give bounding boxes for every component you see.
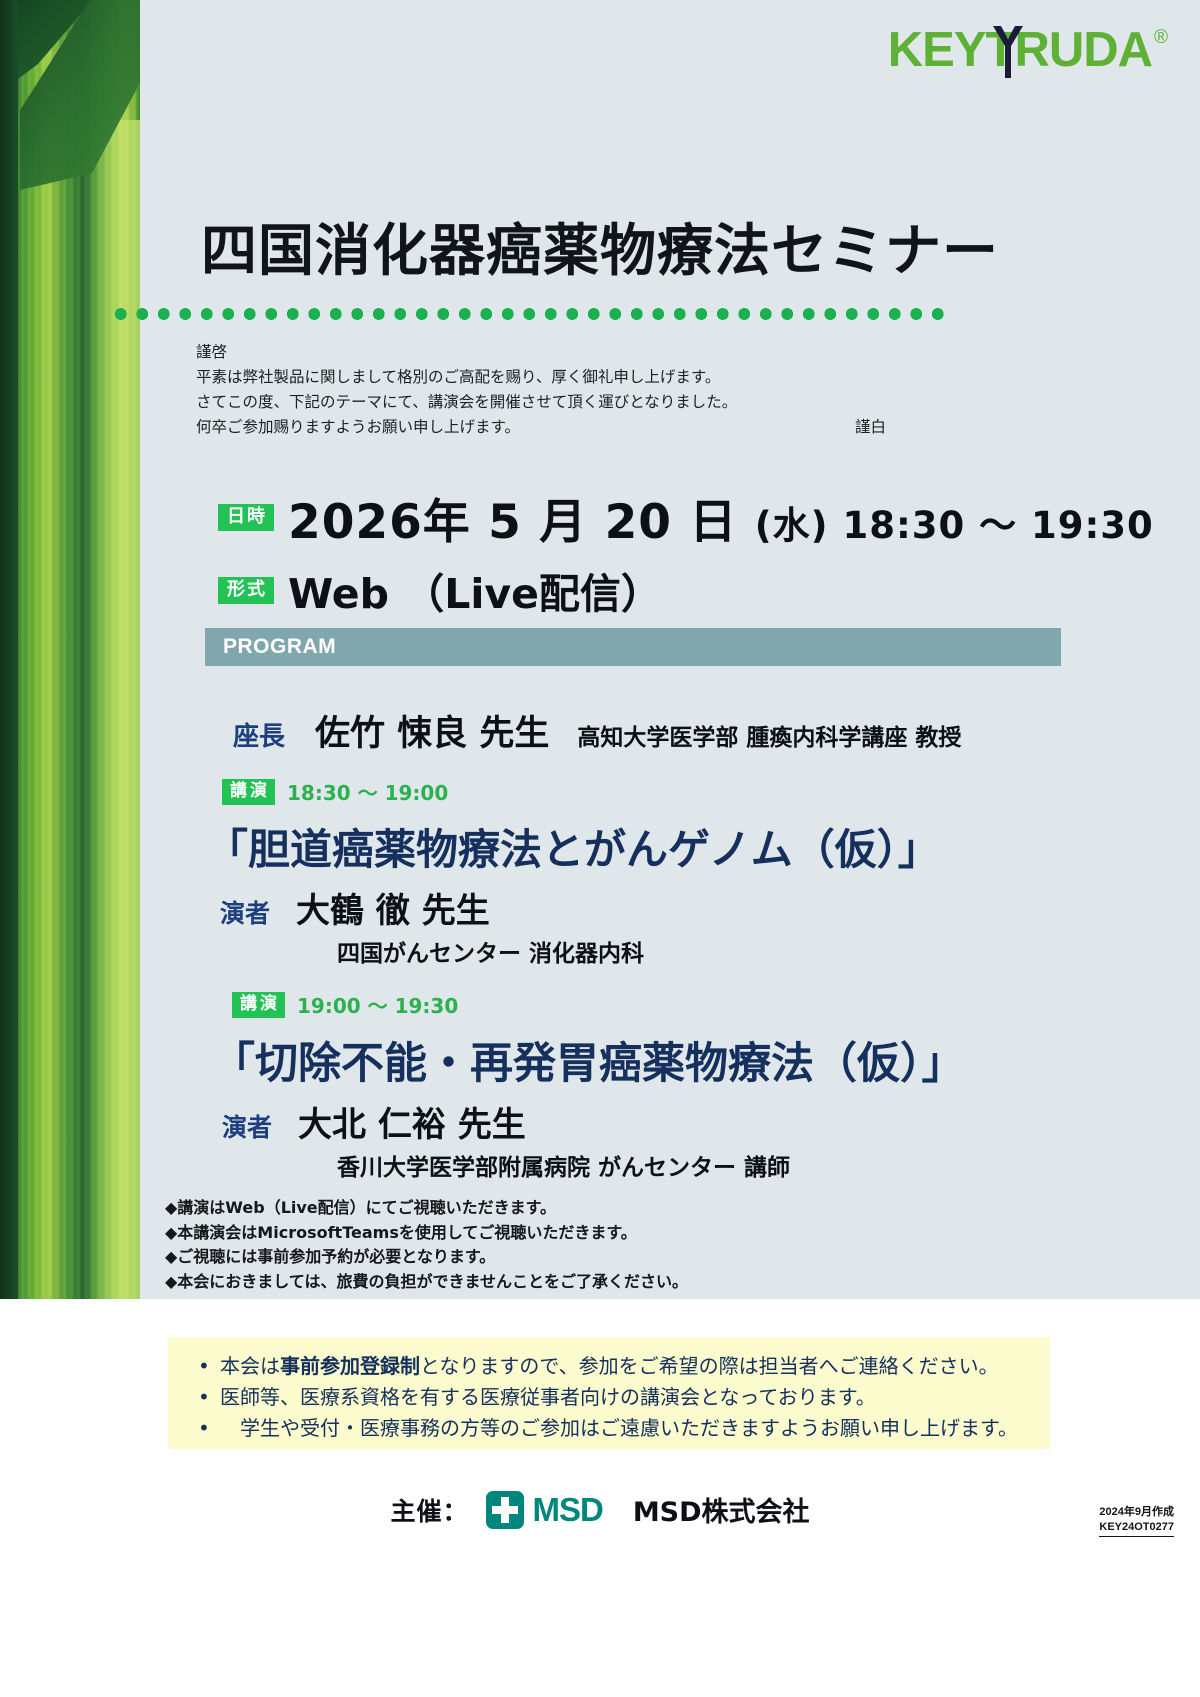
lecture-title: 「胆道癌薬物療法とがんゲノム（仮）」 xyxy=(206,816,940,877)
notice-item: 医師等、医療系資格を有する医療従事者向けの講演会となっております。 xyxy=(192,1382,1030,1413)
speaker-affiliation: 四国がんセンター 消化器内科 xyxy=(337,934,940,968)
note-item: ◆講演はWeb（Live配信）にてご視聴いただきます。 xyxy=(165,1196,688,1221)
msd-logo: MSD xyxy=(486,1491,602,1529)
keytruda-y-icon xyxy=(991,24,1025,80)
notice-list: 本会は事前参加登録制となりますので、参加をご希望の際は担当者へご連絡ください。 … xyxy=(192,1351,1030,1444)
chairperson-row: 座長 佐竹 悚良 先生 高知大学医学部 腫瘓内科学講座 教授 xyxy=(233,705,961,756)
format-value: Web （Live配信） xyxy=(288,560,662,620)
chairperson-label: 座長 xyxy=(233,716,285,753)
notes-list: ◆講演はWeb（Live配信）にてご視聴いただきます。 ◆本講演会はMicros… xyxy=(165,1196,688,1294)
registration-notice-box: 本会は事前参加登録制となりますので、参加をご希望の際は担当者へご連絡ください。 … xyxy=(168,1337,1050,1449)
date-value-main: 2026年 5 月 20 日 xyxy=(288,495,737,550)
notice-item-post: 医師等、医療系資格を有する医療従事者向けの講演会となっております。 xyxy=(220,1385,876,1409)
company-name: MSD株式会社 xyxy=(633,1490,810,1529)
host-label: 主催： xyxy=(390,1492,468,1528)
band-dark-edge xyxy=(0,0,18,1299)
note-item: ◆本会におきましては、旅費の負担ができませんことをご了承ください。 xyxy=(165,1270,688,1295)
speaker-name: 大北 仁裕 先生 xyxy=(298,1097,526,1146)
date-value: 2026年 5 月 20 日 (水) 18:30 ～ 19:30 xyxy=(288,483,1154,552)
format-row: 形式 Web （Live配信） xyxy=(218,560,662,620)
notice-item-post: 学生や受付・医療事務の方等のご参加はご遠慮いただきますようお願い申し上げます。 xyxy=(220,1416,1018,1440)
program-header-bar: PROGRAM xyxy=(205,628,1061,666)
dotted-divider xyxy=(110,306,950,320)
date-row: 日時 2026年 5 月 20 日 (水) 18:30 ～ 19:30 xyxy=(218,483,1154,552)
chairperson-affiliation: 高知大学医学部 腫瘓内科学講座 教授 xyxy=(577,718,961,752)
speaker-label: 演者 xyxy=(220,894,270,930)
intro-line-3: 何卒ご参加赐りますようお願い申し上げます。 謹白 xyxy=(196,415,926,440)
lecture-block: 講演 19:00 ～ 19:30 「切除不能・再発胃癌薬物療法（仮）」 演者 大… xyxy=(232,990,965,1182)
intro-paragraph: 謹啓 平素は弊社製品に関しまして格別のご高配を赐り、厚く御礼申し上げます。 さて… xyxy=(196,340,926,440)
document-code-block: 2024年9月作成 KEY24OT0277 xyxy=(1099,1505,1174,1537)
decorative-gradient-band xyxy=(0,0,140,1299)
msd-wordmark: MSD xyxy=(532,1491,602,1529)
note-item: ◆本講演会はMicrosoftTeamsを使用してご視聴いただきます。 xyxy=(165,1221,688,1246)
lecture-time: 19:00 ～ 19:30 xyxy=(297,990,458,1019)
notice-item: 本会は事前参加登録制となりますので、参加をご希望の際は担当者へご連絡ください。 xyxy=(192,1351,1030,1382)
doc-code: KEY24OT0277 xyxy=(1099,1520,1174,1537)
lecture-tag: 講演 xyxy=(222,779,275,805)
intro-salutation: 謹啓 xyxy=(196,340,926,365)
flyer-page: KEYTRUDA ® 四国消化器癌薬物療法セミナー 謹啓 平素は弊社製品に関しま… xyxy=(0,0,1200,1697)
footer: 主催： MSD MSD株式会社 xyxy=(0,1490,1200,1529)
speaker-row: 演者 大鶴 徹 先生 xyxy=(220,883,940,932)
intro-closing: 謹白 xyxy=(855,415,886,440)
date-value-sub: (水) 18:30 ～ 19:30 xyxy=(755,504,1154,547)
notice-item-strong: 事前参加登録制 xyxy=(280,1354,420,1378)
date-badge: 日時 xyxy=(218,504,274,531)
page-title: 四国消化器癌薬物療法セミナー xyxy=(0,206,1200,287)
doc-date: 2024年9月作成 xyxy=(1099,1505,1174,1520)
speaker-name: 大鶴 徹 先生 xyxy=(296,883,490,932)
speaker-label: 演者 xyxy=(222,1108,272,1144)
notice-item-pre: 本会は xyxy=(220,1354,280,1378)
lecture-head: 講演 19:00 ～ 19:30 xyxy=(232,990,965,1019)
lecture-block: 講演 18:30 ～ 19:00 「胆道癌薬物療法とがんゲノム（仮）」 演者 大… xyxy=(222,777,940,968)
msd-cross-icon xyxy=(486,1491,524,1529)
speaker-affiliation: 香川大学医学部附属病院 がんセンター 講師 xyxy=(337,1148,965,1182)
lecture-head: 講演 18:30 ～ 19:00 xyxy=(222,777,940,806)
chairperson-name: 佐竹 悚良 先生 xyxy=(315,705,549,756)
lecture-tag: 講演 xyxy=(232,992,285,1018)
notice-item: 学生や受付・医療事務の方等のご参加はご遠慮いただきますようお願い申し上げます。 xyxy=(192,1413,1030,1444)
chevron-graphic xyxy=(0,0,140,230)
note-item: ◆ご視聴には事前参加予約が必要となります。 xyxy=(165,1245,688,1270)
registered-trademark-icon: ® xyxy=(1154,27,1168,49)
speaker-row: 演者 大北 仁裕 先生 xyxy=(222,1097,965,1146)
format-badge: 形式 xyxy=(218,577,274,604)
program-header-label: PROGRAM xyxy=(205,635,336,659)
notice-item-post: となりますので、参加をご希望の際は担当者へご連絡ください。 xyxy=(420,1354,999,1378)
lecture-title: 「切除不能・再発胃癌薬物療法（仮）」 xyxy=(212,1029,965,1091)
intro-line-3-text: 何卒ご参加赐りますようお願い申し上げます。 xyxy=(196,418,520,436)
intro-line-2: さてこの度、下記のテーマにて、講演会を開催させて頂く運びとなりました。 xyxy=(196,390,926,415)
keytruda-logo: KEYTRUDA ® xyxy=(888,26,1168,75)
band-glow xyxy=(86,120,140,1299)
intro-line-1: 平素は弊社製品に関しまして格別のご高配を赐り、厚く御礼申し上げます。 xyxy=(196,365,926,390)
lecture-time: 18:30 ～ 19:00 xyxy=(287,777,448,806)
